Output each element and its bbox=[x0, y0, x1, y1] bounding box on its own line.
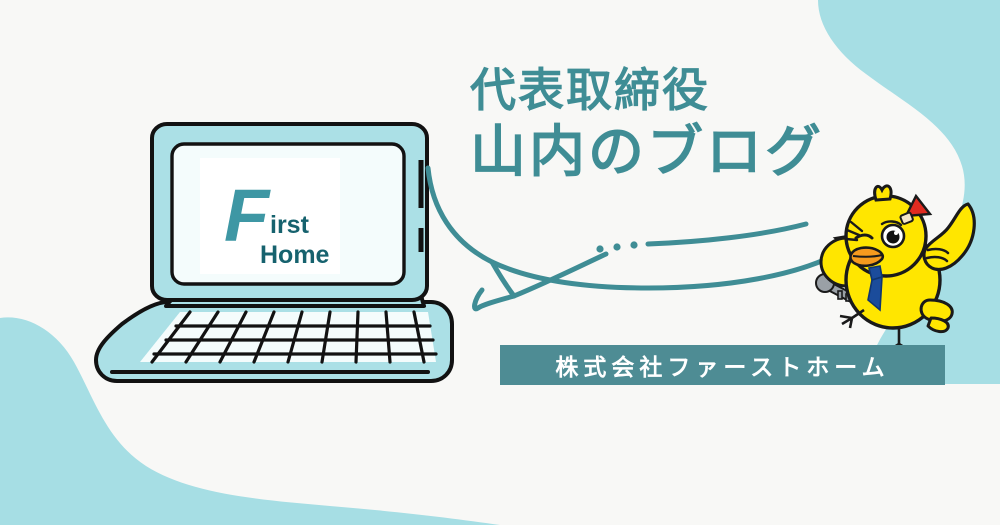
company-name-banner: 株式会社ファーストホーム bbox=[500, 345, 945, 385]
mascot-tail bbox=[928, 318, 948, 332]
laptop-illustration bbox=[96, 124, 452, 381]
laptop-display-logo-card bbox=[200, 158, 340, 274]
heading-line-role: 代表取締役 bbox=[470, 66, 900, 114]
company-name-label: 株式会社ファーストホーム bbox=[555, 348, 889, 382]
mascot-eye-highlight bbox=[894, 231, 898, 235]
heading-line-blog-title: 山内のブログ bbox=[470, 122, 900, 182]
page-title: 代表取締役 山内のブログ bbox=[470, 66, 900, 183]
speech-bubble-right-stroke bbox=[648, 224, 806, 244]
speech-bubble-dot-2 bbox=[613, 243, 620, 250]
mascot-head-tuft bbox=[875, 186, 891, 200]
mascot-yellow-chick bbox=[816, 186, 974, 354]
blog-header-banner: F irst Home 代表取締役 山内のブログ 株式会社ファーストホーム bbox=[0, 0, 1000, 525]
speech-bubble-dot-3 bbox=[630, 241, 637, 248]
speech-bubble bbox=[428, 168, 879, 309]
mascot-thumbs-up-wing bbox=[924, 204, 974, 270]
speech-bubble-dot-1 bbox=[596, 245, 603, 252]
